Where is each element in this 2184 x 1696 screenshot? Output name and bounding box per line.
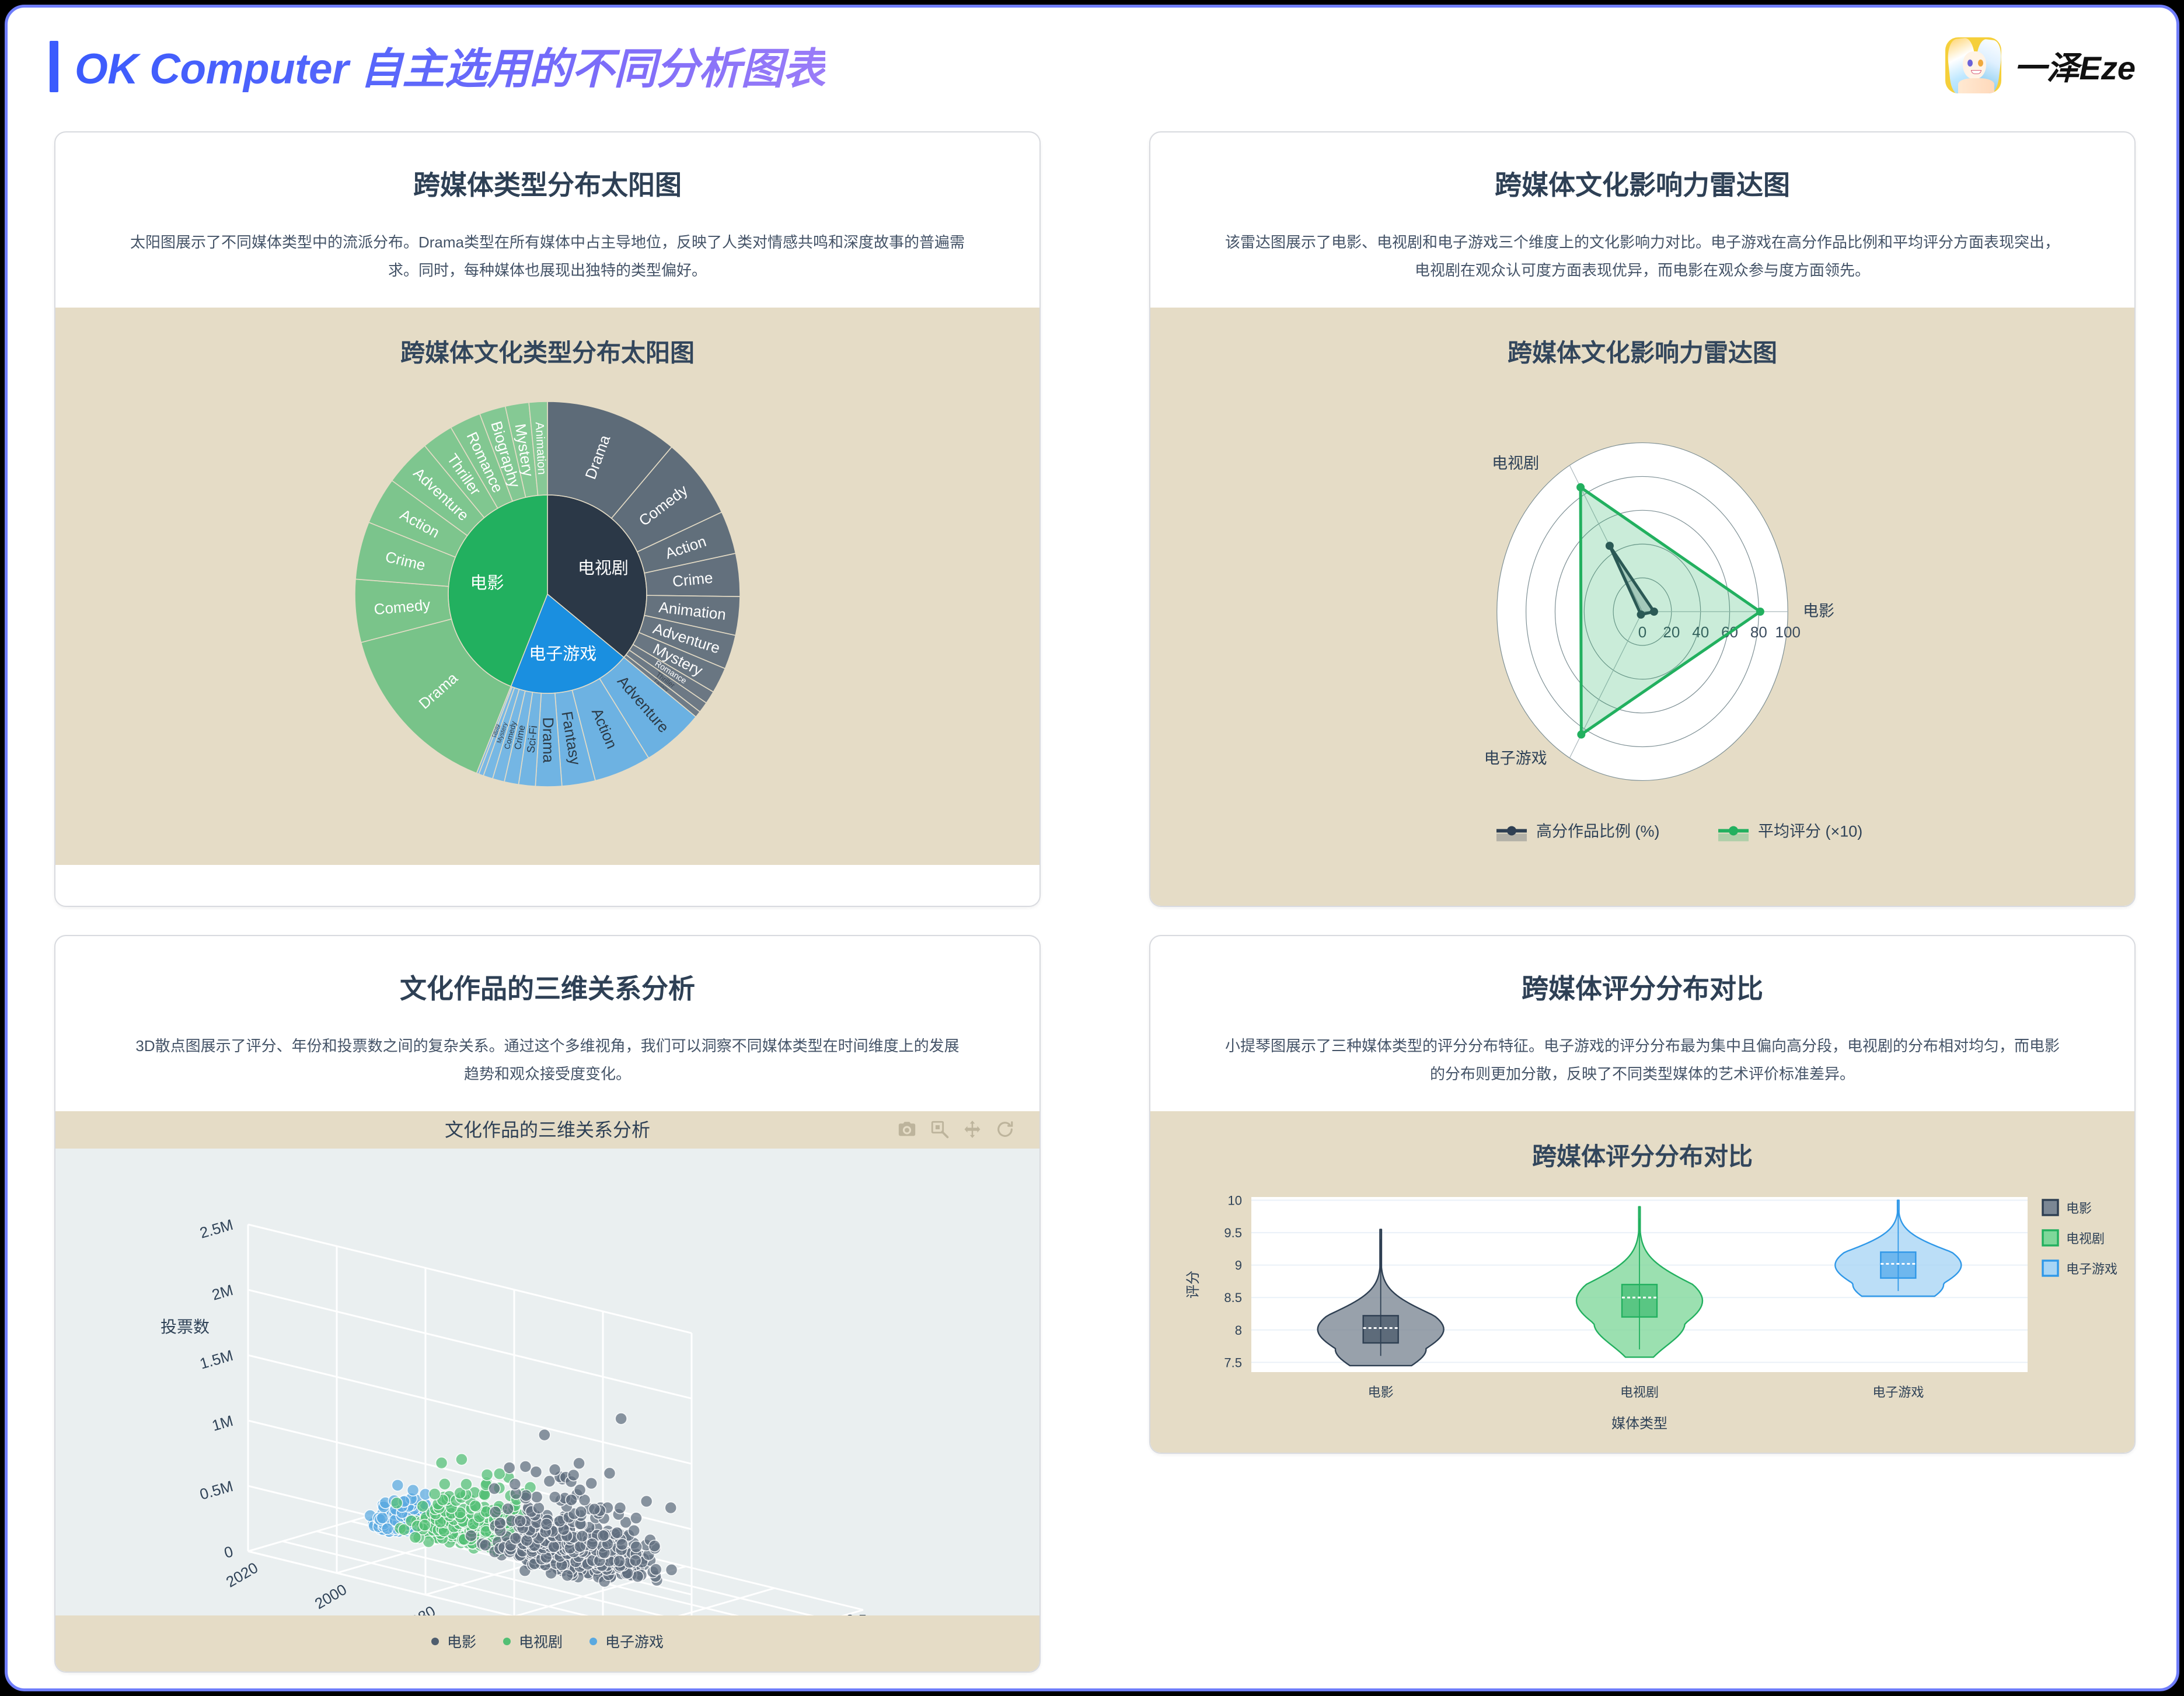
scatter-y-tick: 9.5: [846, 1611, 867, 1615]
scatter-point: [465, 1530, 477, 1542]
scatter-point: [598, 1530, 609, 1542]
reset-icon[interactable]: [995, 1119, 1015, 1139]
sunburst-outer-label: Drama: [539, 717, 557, 763]
scatter-x-tick: 2000: [312, 1580, 350, 1613]
scatter-point: [509, 1478, 521, 1490]
pan-icon[interactable]: [962, 1119, 982, 1139]
radar-axis-label: 电影: [1803, 602, 1834, 620]
violin-panel: 跨媒体评分分布对比 7.588.599.510评分电影电视剧电子游戏媒体类型电影…: [1150, 1111, 2134, 1453]
legend-item-movie[interactable]: 电影: [431, 1631, 476, 1652]
scatter-point: [519, 1461, 531, 1472]
card-scatter3d-head: 文化作品的三维关系分析 3D散点图展示了评分、年份和投票数之间的复杂关系。通过这…: [55, 936, 1039, 1111]
scatter-point: [574, 1484, 586, 1496]
sunburst-inner-label: 电视剧: [578, 559, 629, 578]
violin-box[interactable]: [1881, 1252, 1916, 1278]
scatter3d-canvas[interactable]: 00.5M1M1.5M2M2.5M投票数20202000198019601940…: [55, 1149, 1039, 1615]
scatter-x-tick: 2020: [223, 1559, 261, 1591]
violin-y-tick: 10: [1228, 1194, 1242, 1208]
radar-point: [1576, 483, 1585, 491]
radar-legend-swatch: [1718, 834, 1749, 842]
violin-y-axis-label: 评分: [1185, 1271, 1201, 1299]
card-title: 跨媒体文化影响力雷达图: [1183, 164, 2102, 203]
radar-tick-label: 100: [1775, 623, 1801, 641]
scatter-point: [502, 1503, 514, 1515]
scatter-point: [490, 1506, 501, 1518]
card-title: 文化作品的三维关系分析: [88, 968, 1007, 1006]
scatter-point: [616, 1539, 628, 1551]
scatter-point: [460, 1479, 472, 1491]
title-accent-bar: [50, 41, 58, 92]
page-title: OK Computer 自主选用的不同分析图表: [75, 34, 825, 96]
scatter-point: [531, 1491, 543, 1503]
radar-axis-label: 电视剧: [1492, 455, 1539, 472]
scatter-point: [533, 1502, 545, 1514]
zoom-icon[interactable]: [930, 1119, 950, 1139]
card-scatter3d: 文化作品的三维关系分析 3D散点图展示了评分、年份和投票数之间的复杂关系。通过这…: [54, 935, 1041, 1673]
scatter3d-svg: 00.5M1M1.5M2M2.5M投票数20202000198019601940…: [55, 1149, 1036, 1615]
scatter-point: [566, 1494, 577, 1506]
scatter-point: [588, 1503, 600, 1515]
scatter-z-tick: 2.5M: [198, 1216, 235, 1242]
panel-title: 跨媒体文化类型分布太阳图: [55, 333, 1039, 369]
violin-legend-swatch[interactable]: [2043, 1200, 2058, 1215]
panel-title: 跨媒体评分分布对比: [1150, 1137, 2134, 1172]
violin-y-tick: 9.5: [1224, 1226, 1242, 1240]
camera-icon[interactable]: [897, 1119, 917, 1139]
scatter-point: [376, 1512, 388, 1524]
scatter-grid-line: [248, 1290, 692, 1398]
scatter-z-tick: 2M: [210, 1281, 235, 1304]
violin-x-tick: 电子游戏: [1872, 1385, 1924, 1400]
scatter-point: [586, 1538, 598, 1550]
sunburst-outer-label: Animation: [533, 422, 548, 475]
avatar: [1945, 37, 2001, 93]
violin-y-tick: 9: [1235, 1258, 1242, 1273]
card-description: 3D散点图展示了评分、年份和投票数之间的复杂关系。通过这个多维视角，我们可以洞察…: [130, 1032, 965, 1088]
scatter-point: [504, 1462, 515, 1474]
radar-panel: 跨媒体文化影响力雷达图 电影电视剧电子游戏020406080100高分作品比例 …: [1150, 308, 2134, 906]
sunburst-svg: 电视剧DramaComedyActionCrimeAnimationAdvent…: [57, 384, 1038, 833]
scatter-point: [575, 1506, 587, 1518]
scatter-point: [630, 1541, 642, 1553]
scatter-point: [540, 1519, 552, 1530]
radar-point: [1756, 608, 1764, 616]
violin-legend-label[interactable]: 电视剧: [2066, 1231, 2105, 1246]
sunburst-inner-label: 电子游戏: [529, 644, 596, 664]
violin-legend-label[interactable]: 电子游戏: [2066, 1262, 2117, 1276]
violin-box[interactable]: [1363, 1316, 1398, 1343]
scatter-point: [436, 1457, 448, 1469]
card-sunburst-head: 跨媒体类型分布太阳图 太阳图展示了不同媒体类型中的流派分布。Drama类型在所有…: [55, 132, 1039, 308]
radar-svg: 电影电视剧电子游戏020406080100高分作品比例 (%)平均评分 (×10…: [1152, 393, 2133, 877]
brand-name: 一泽Eze: [2014, 42, 2136, 89]
scatter-point: [520, 1490, 532, 1502]
scatter-point: [549, 1464, 561, 1476]
card-description: 小提琴图展示了三种媒体类型的评分分布特征。电子游戏的评分分布最为集中且偏向高分段…: [1225, 1032, 2060, 1088]
scatter-z-tick: 1M: [210, 1412, 235, 1435]
scatter-point: [561, 1570, 573, 1582]
scatter-point: [417, 1500, 428, 1512]
scatter-point: [613, 1555, 625, 1567]
scatter-point: [577, 1530, 588, 1542]
page-header: OK Computer 自主选用的不同分析图表 一泽Eze: [8, 8, 2176, 123]
scatter-point: [392, 1479, 403, 1491]
radar-legend-swatch: [1496, 834, 1527, 842]
card-title: 跨媒体类型分布太阳图: [88, 164, 1007, 203]
violin-box[interactable]: [1622, 1285, 1657, 1317]
violin-y-tick: 7.5: [1224, 1356, 1242, 1370]
scatter-z-tick: 1.5M: [198, 1346, 235, 1373]
scatter3d-panel: 文化作品的三维关系分析: [55, 1111, 1039, 1671]
scatter-z-tick: 0.5M: [198, 1477, 235, 1503]
violin-x-axis-label: 媒体类型: [1611, 1416, 1667, 1432]
scatter-point: [482, 1469, 493, 1481]
violin-chart[interactable]: 7.588.599.510评分电影电视剧电子游戏媒体类型电影电视剧电子游戏: [1150, 1188, 2134, 1433]
violin-y-tick: 8: [1235, 1323, 1242, 1338]
panel-title: 文化作品的三维关系分析: [55, 1111, 1039, 1149]
scatter-grid-line: [248, 1355, 692, 1464]
scatter-point: [543, 1475, 555, 1487]
violin-x-tick: 电影: [1368, 1385, 1394, 1400]
scatter-point: [456, 1454, 467, 1465]
card-radar: 跨媒体文化影响力雷达图 该雷达图展示了电影、电视剧和电子游戏三个维度上的文化影响…: [1149, 131, 2136, 907]
scatter-point: [650, 1564, 662, 1576]
violin-legend-swatch[interactable]: [2043, 1261, 2058, 1276]
card-violin: 跨媒体评分分布对比 小提琴图展示了三种媒体类型的评分分布特征。电子游戏的评分分布…: [1149, 935, 2136, 1454]
scatter-point: [603, 1468, 615, 1479]
scatter-point: [409, 1532, 421, 1544]
scatter-point: [630, 1512, 642, 1524]
plotly-modebar[interactable]: [897, 1119, 1015, 1139]
scatter-grid-line: [603, 1589, 774, 1616]
radar-legend-label[interactable]: 高分作品比例 (%): [1536, 823, 1660, 840]
legend-swatch: [503, 1638, 511, 1645]
scatter-point: [611, 1527, 623, 1539]
sunburst-panel: 跨媒体文化类型分布太阳图 电视剧DramaComedyActionCrimeAn…: [55, 308, 1039, 865]
card-violin-head: 跨媒体评分分布对比 小提琴图展示了三种媒体类型的评分分布特征。电子游戏的评分分布…: [1150, 936, 2134, 1111]
scatter-point: [510, 1533, 521, 1544]
sunburst-chart[interactable]: 电视剧DramaComedyActionCrimeAnimationAdvent…: [55, 384, 1039, 845]
scatter-z-axis-label: 投票数: [161, 1318, 210, 1336]
brand-group: 一泽Eze: [1945, 37, 2136, 93]
app-root: OK Computer 自主选用的不同分析图表 一泽Eze 跨媒体类型分布太阳图…: [5, 5, 2179, 1691]
card-sunburst: 跨媒体类型分布太阳图 太阳图展示了不同媒体类型中的流派分布。Drama类型在所有…: [54, 131, 1041, 907]
scatter-point: [530, 1466, 542, 1478]
radar-tick-label: 80: [1750, 623, 1767, 641]
violin-svg: 7.588.599.510评分电影电视剧电子游戏媒体类型电影电视剧电子游戏: [1164, 1188, 2121, 1433]
plotly-header: 文化作品的三维关系分析: [55, 1111, 1039, 1149]
scatter3d-legend[interactable]: 电影 电视剧 电子游戏: [55, 1615, 1039, 1652]
legend-label: 电视剧: [519, 1631, 563, 1652]
legend-item-game[interactable]: 电子游戏: [589, 1631, 664, 1652]
sunburst-inner-label: 电影: [470, 573, 504, 592]
scatter-z-tick: 0: [222, 1543, 235, 1562]
title-group: OK Computer 自主选用的不同分析图表: [50, 34, 825, 96]
legend-swatch: [431, 1638, 439, 1645]
violin-y-tick: 8.5: [1224, 1291, 1242, 1306]
scatter-point: [666, 1564, 678, 1576]
radar-legend-label[interactable]: 平均评分 (×10): [1758, 823, 1862, 840]
radar-chart[interactable]: 电影电视剧电子游戏020406080100高分作品比例 (%)平均评分 (×10…: [1150, 384, 2134, 886]
cards-grid: 跨媒体类型分布太阳图 太阳图展示了不同媒体类型中的流派分布。Drama类型在所有…: [54, 131, 2136, 1673]
legend-label: 电影: [447, 1631, 476, 1652]
scatter-point: [549, 1492, 561, 1503]
scatter-point: [585, 1478, 597, 1489]
card-title: 跨媒体评分分布对比: [1183, 968, 2102, 1006]
scatter-point: [469, 1500, 481, 1512]
radar-point: [1577, 731, 1585, 739]
scatter-point: [514, 1515, 526, 1527]
scatter-point: [648, 1540, 660, 1552]
legend-swatch: [589, 1638, 597, 1645]
scatter-point: [641, 1496, 653, 1507]
scatter-point: [439, 1478, 451, 1490]
radar-axis-label: 电子游戏: [1484, 750, 1547, 767]
scatter-point: [630, 1555, 641, 1566]
scatter-x-tick: 1980: [400, 1603, 438, 1616]
scatter-point: [489, 1483, 500, 1495]
legend-item-tv[interactable]: 电视剧: [503, 1631, 563, 1652]
card-description: 该雷达图展示了电影、电视剧和电子游戏三个维度上的文化影响力对比。电子游戏在高分作…: [1225, 228, 2060, 284]
card-radar-head: 跨媒体文化影响力雷达图 该雷达图展示了电影、电视剧和电子游戏三个维度上的文化影响…: [1150, 132, 2134, 308]
violin-legend-swatch[interactable]: [2043, 1230, 2058, 1245]
scatter-point: [419, 1520, 431, 1531]
scatter-point: [665, 1502, 676, 1514]
scatter-point: [548, 1541, 560, 1553]
scatter-point: [568, 1470, 580, 1481]
scatter-grid-line: [248, 1224, 692, 1333]
scatter-point: [614, 1502, 626, 1514]
scatter-point: [539, 1429, 550, 1441]
violin-legend-label[interactable]: 电影: [2066, 1201, 2092, 1216]
scatter-point: [494, 1517, 506, 1529]
scatter-point: [615, 1413, 627, 1425]
scatter-point: [429, 1488, 441, 1500]
scatter-point: [391, 1498, 403, 1509]
card-description: 太阳图展示了不同媒体类型中的流派分布。Drama类型在所有媒体中占主导地位，反映…: [130, 228, 965, 284]
legend-label: 电子游戏: [605, 1631, 664, 1652]
scatter-point: [628, 1525, 640, 1537]
scatter-point: [407, 1485, 419, 1496]
panel-title: 跨媒体文化影响力雷达图: [1150, 333, 2134, 369]
violin-x-tick: 电视剧: [1620, 1385, 1659, 1400]
scatter-point: [573, 1458, 585, 1470]
